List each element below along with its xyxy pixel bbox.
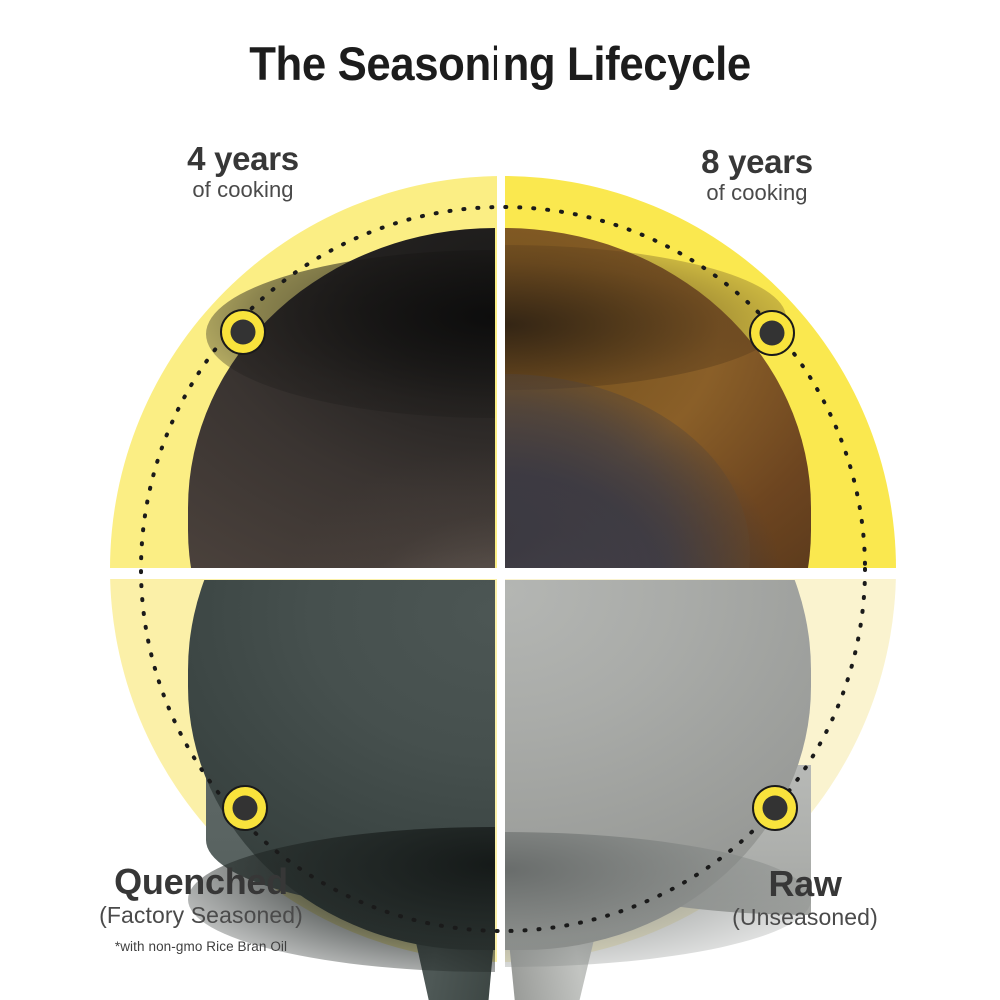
horizontal-divider xyxy=(110,568,896,579)
label-block-top-left: 4 years of cooking xyxy=(78,142,408,204)
label-block-bottom-right: Raw (Unseasoned) xyxy=(640,865,970,931)
pan-image-bottom-right xyxy=(504,580,811,1000)
label-sub-of-cooking-left: of cooking xyxy=(78,177,408,204)
label-sub-factory-seasoned: (Factory Seasoned) xyxy=(36,901,366,929)
label-sub-unseasoned: (Unseasoned) xyxy=(640,903,970,931)
pan-bowl-seasoned-8yr xyxy=(504,228,811,570)
label-heading-4-years: 4 years xyxy=(78,142,408,177)
label-heading-raw: Raw xyxy=(640,865,970,903)
vertical-divider xyxy=(497,0,505,1000)
label-footnote-rice-bran-oil: *with non-gmo Rice Bran Oil xyxy=(36,938,366,956)
pan-image-top-right xyxy=(504,188,811,570)
label-heading-quenched: Quenched xyxy=(36,863,366,901)
pan-bowl-seasoned-4yr xyxy=(188,228,495,570)
label-block-top-right: 8 years of cooking xyxy=(592,145,922,207)
infographic-canvas: The Seasoning Lifecycle xyxy=(0,0,1000,1000)
label-heading-8-years: 8 years xyxy=(592,145,922,180)
pan-image-top-left xyxy=(188,188,495,570)
label-sub-of-cooking-right: of cooking xyxy=(592,180,922,207)
label-block-bottom-left: Quenched (Factory Seasoned) *with non-gm… xyxy=(36,863,366,956)
